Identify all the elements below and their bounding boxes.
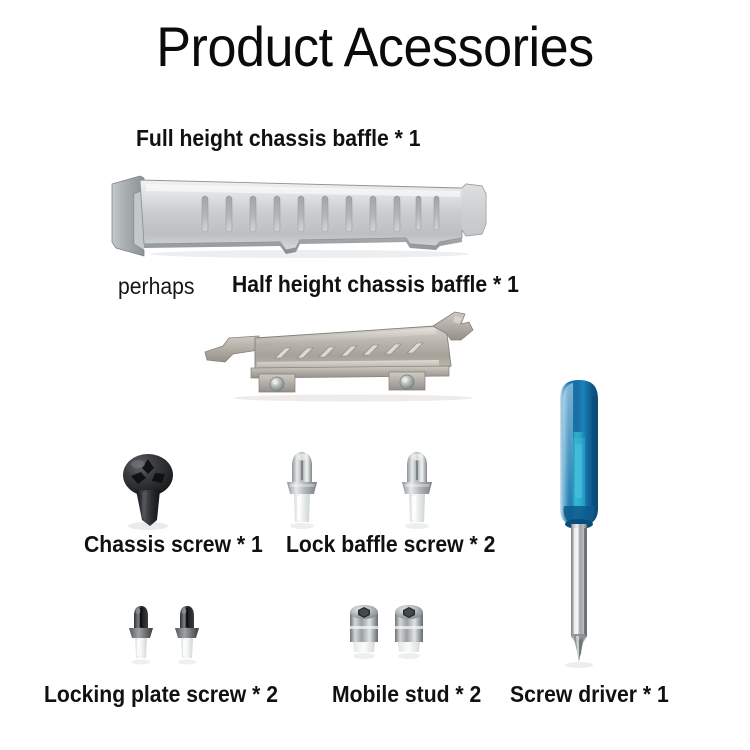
caption-half-height-chassis-baffle: Half height chassis baffle * 1 — [232, 270, 519, 298]
caption-full-height-chassis-baffle: Full height chassis baffle * 1 — [136, 124, 421, 152]
lock-baffle-screw-image — [398, 450, 436, 535]
caption-chassis-screw: Chassis screw * 1 — [84, 530, 263, 558]
caption-screw-driver: Screw driver * 1 — [510, 680, 669, 708]
locking-plate-screw-image — [172, 604, 202, 670]
screw-driver-image — [540, 378, 618, 670]
locking-plate-screw-image — [126, 604, 156, 670]
caption-locking-plate-screw: Locking plate screw * 2 — [44, 680, 278, 708]
lock-baffle-screw-image — [283, 450, 321, 535]
caption-perhaps: perhaps — [118, 272, 194, 300]
chassis-screw-image — [118, 450, 182, 535]
mobile-stud-image — [346, 602, 382, 664]
half-height-chassis-baffle-image — [203, 310, 493, 402]
rivet-icon — [400, 375, 414, 389]
caption-mobile-stud: Mobile stud * 2 — [332, 680, 481, 708]
page-title: Product Acessories — [26, 14, 724, 80]
mobile-stud-image — [391, 602, 427, 664]
full-height-chassis-baffle-image — [110, 172, 492, 260]
rivet-icon — [270, 377, 284, 391]
product-accessories-image: Product Acessories Full height chassis b… — [0, 0, 750, 750]
caption-lock-baffle-screw: Lock baffle screw * 2 — [286, 530, 495, 558]
